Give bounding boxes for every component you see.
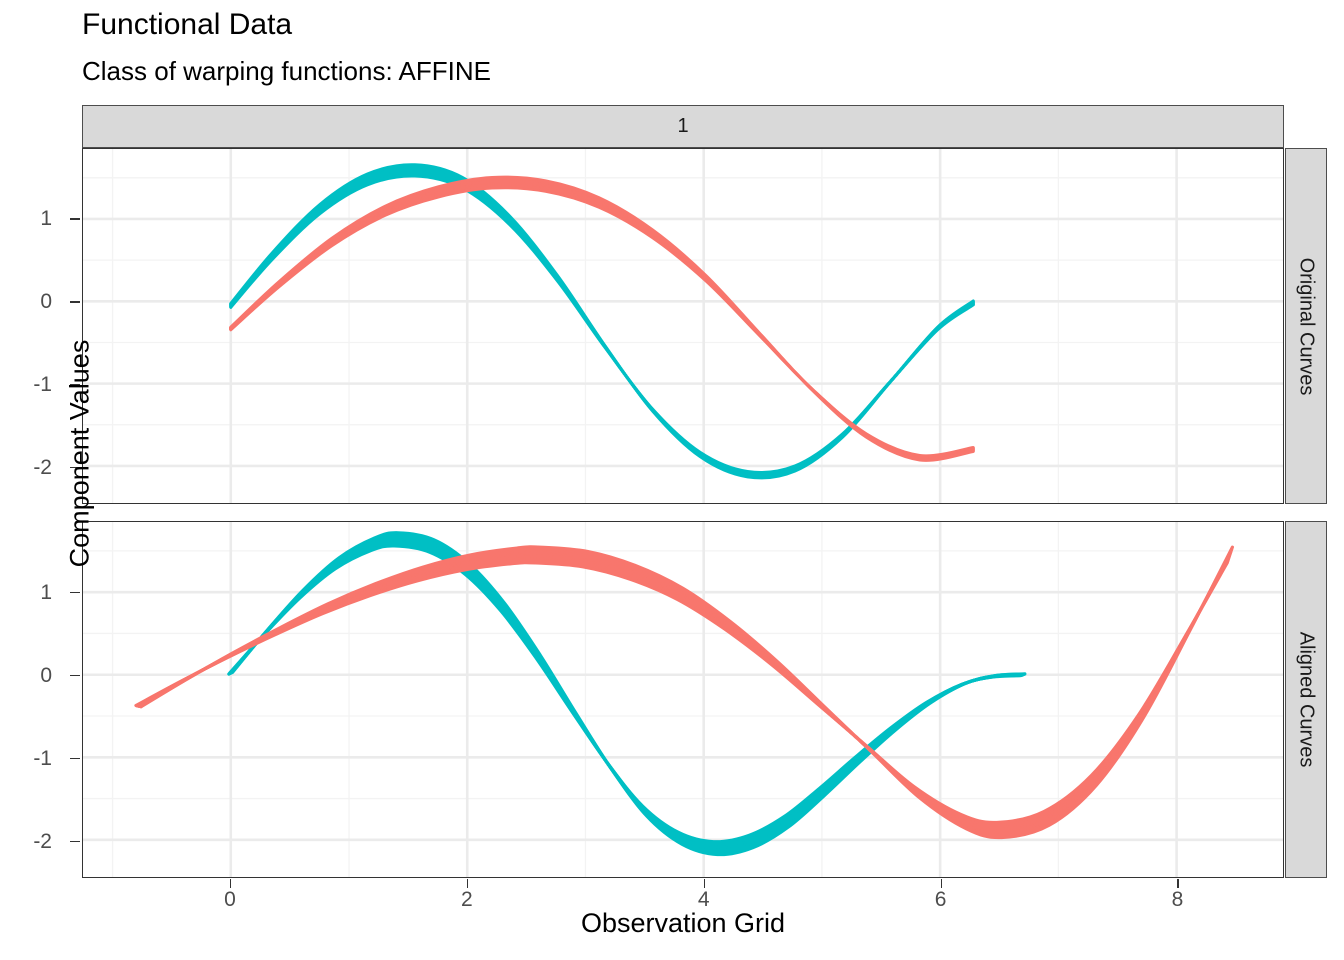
facet-strip-original-curves: Original Curves [1285,148,1327,504]
panel-aligned-curves [82,521,1284,878]
y-axis-tick-label: -1 [0,373,52,397]
curve-line [231,539,1023,849]
curve-line [232,536,1024,852]
curve-line [229,546,1021,842]
curve-line [232,534,1024,853]
curve-line [231,176,973,472]
y-axis-tick-label: 1 [0,581,52,605]
x-axis-tick-mark [941,879,942,888]
x-axis-tick-mark [467,879,468,888]
x-axis-tick-mark [704,879,705,888]
y-axis-tick-label: 1 [0,207,52,231]
page-title: Functional Data [82,8,292,42]
curve-line [231,537,1023,850]
y-axis-title: Component Values [65,244,96,664]
facet-strip-aligned-curves: Aligned Curves [1285,521,1327,878]
y-axis-tick-label: 0 [0,290,52,314]
y-axis-tick-label: -1 [0,747,52,771]
facet-strip-original-curves-label: Original Curves [1295,257,1318,395]
chart-root: Functional Data Class of warping functio… [0,0,1344,960]
y-axis-tick-label: -2 [0,830,52,854]
x-axis-tick-mark [230,879,231,888]
facet-strip-aligned-curves-label: Aligned Curves [1295,632,1318,768]
page-subtitle: Class of warping functions: AFFINE [82,56,491,87]
y-axis-tick-label: -2 [0,456,52,480]
y-axis-tick-mark [70,675,80,676]
x-axis-title: Observation Grid [82,908,1284,939]
y-axis-tick-mark [70,218,80,219]
y-axis-tick-mark [70,758,80,759]
y-axis-tick-mark [70,841,80,842]
x-axis-tick-mark [1177,879,1178,888]
facet-strip-top-label: 1 [677,115,688,138]
panel-original-curves [82,148,1284,504]
curve-line [231,172,973,474]
facet-strip-top: 1 [82,105,1284,148]
curve-line [233,533,1025,855]
y-axis-tick-label: 0 [0,664,52,688]
